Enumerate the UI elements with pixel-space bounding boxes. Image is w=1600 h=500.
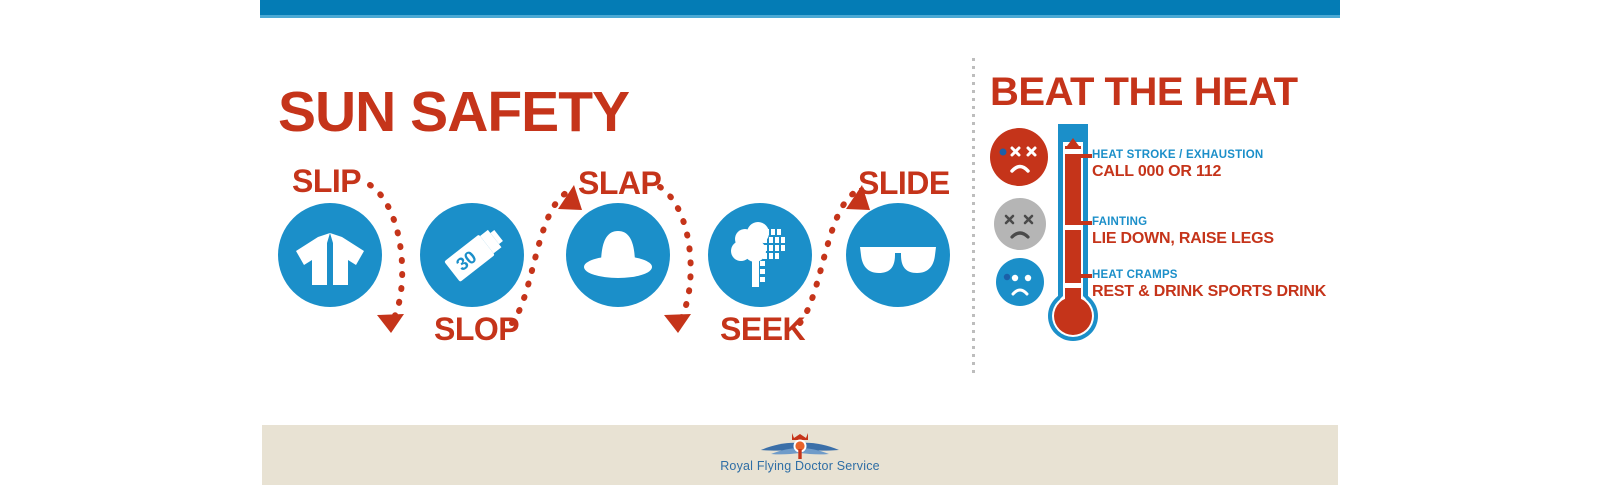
step-circle-seek[interactable] [708,203,812,307]
level-connector-1 [1076,154,1092,158]
level-connector-3 [1076,274,1092,278]
step-label-slide: SLIDE [858,167,950,199]
tree-shade-icon [708,203,812,307]
footer-organisation-name: Royal Flying Doctor Service [262,459,1338,473]
hat-icon [566,203,670,307]
level-heading-fainting: FAINTING [1092,217,1147,229]
footer-bar: Royal Flying Doctor Service [262,425,1338,485]
thermometer-tick-mid [1063,225,1083,230]
top-bar-sheen [260,15,1340,18]
sun-safety-steps: SLIP 30 SLOP SLAP [278,165,958,365]
sunglasses-icon [846,203,950,307]
infographic-page: SUN SAFETY SLIP [0,0,1600,500]
level-action-heat-cramps: REST & DRINK SPORTS DRINK [1092,284,1326,300]
step-label-slop: SLOP [434,313,519,345]
panel-divider [972,58,975,378]
step-label-seek: SEEK [720,313,805,345]
sunscreen-tube-icon: 30 [420,203,524,307]
top-blue-bar [260,0,1340,18]
step-circle-slap[interactable] [566,203,670,307]
level-heading-heat-cramps: HEAT CRAMPS [1092,270,1178,282]
step-circle-slide[interactable] [846,203,950,307]
step-label-slip: SLIP [292,165,361,197]
face-sad-blue [996,258,1044,306]
face-dead-red [990,128,1048,186]
level-connector-2 [1076,221,1092,225]
thermometer-tick-low [1063,283,1083,288]
step-circle-slop[interactable]: 30 [420,203,524,307]
shirt-icon [278,203,382,307]
rfds-winged-crown-logo [755,429,845,463]
level-action-heat-stroke: CALL 000 OR 112 [1092,164,1221,180]
sun-safety-title: SUN SAFETY [278,84,629,141]
level-action-fainting: LIE DOWN, RAISE LEGS [1092,231,1274,247]
beat-the-heat-title: BEAT THE HEAT [990,72,1298,112]
step-circle-slip[interactable] [278,203,382,307]
face-faint-grey [994,198,1046,250]
step-label-slap: SLAP [578,167,661,199]
level-heading-heat-stroke: HEAT STROKE / EXHAUSTION [1092,150,1263,162]
